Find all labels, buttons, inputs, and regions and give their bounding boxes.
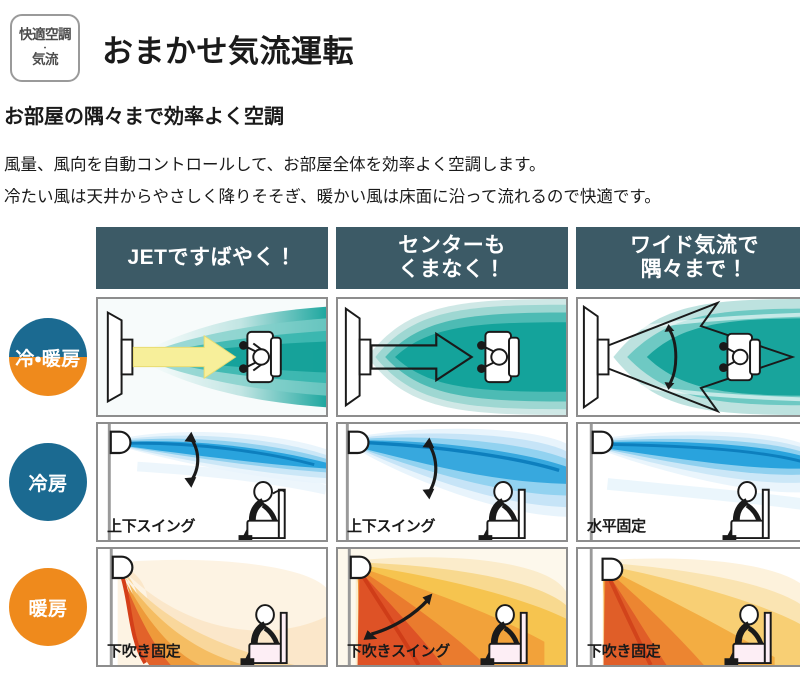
- diagram-cool-horizontal-fixed: 水平固定: [576, 422, 800, 542]
- diagram-cool-swing-jet: 上下スイング: [96, 422, 328, 542]
- row-badge-heating-label: 暖房: [28, 594, 67, 621]
- diagram-jet-top-view: [96, 297, 328, 417]
- table-row: 暖房: [0, 547, 800, 667]
- row-cells: 上下スイング: [96, 422, 800, 542]
- cell-caption: 上下スイング: [347, 515, 435, 536]
- category-badge-line1: 快適空調: [19, 28, 71, 43]
- table-row: 冷房: [0, 422, 800, 542]
- table-rows: 冷・暖房: [0, 297, 800, 672]
- diagram-heat-down-fixed-jet: 下吹き固定: [96, 547, 328, 667]
- diagram-cool-swing-center: 上下スイング: [336, 422, 568, 542]
- column-header-jet-line1: JETですばやく！: [127, 246, 296, 271]
- category-badge-separator: ・: [40, 44, 49, 52]
- cell-caption: 下吹き固定: [587, 640, 661, 661]
- column-header-wide-line2: 隅々まで！: [641, 258, 749, 283]
- category-badge: 快適空調 ・ 気流: [10, 14, 80, 82]
- column-header-center-line2: くまなく！: [398, 258, 506, 283]
- column-header-jet: JETですばやく！: [96, 227, 328, 289]
- row-cells: [96, 297, 800, 417]
- column-header-wide: ワイド気流で 隅々まで！: [576, 227, 800, 289]
- category-badge-line2: 気流: [32, 53, 58, 68]
- cell-caption: 上下スイング: [107, 515, 195, 536]
- row-badge-heating: 暖房: [9, 568, 87, 646]
- cell-caption: 下吹きスイング: [347, 640, 450, 661]
- body-paragraph-1: 風量、風向を自動コントロールして、お部屋全体を効率よく空調します。: [4, 149, 800, 181]
- cell-caption: 水平固定: [587, 515, 646, 536]
- row-badge-cool-heat-label: 冷・暖房: [15, 344, 80, 371]
- diagram-heat-down-fixed-wide: 下吹き固定: [576, 547, 800, 667]
- table-column-headers: JETですばやく！ センターも くまなく！ ワイド気流で 隅々まで！: [96, 227, 800, 289]
- diagram-center-top-view: [336, 297, 568, 417]
- column-header-wide-line1: ワイド気流で: [630, 234, 759, 259]
- row-label-cool-heat-wrap: 冷・暖房: [0, 318, 96, 396]
- diagram-heat-down-swing: 下吹きスイング: [336, 547, 568, 667]
- page-title: おまかせ気流運転: [102, 26, 354, 71]
- row-badge-cooling-label: 冷房: [28, 469, 67, 496]
- row-badge-cooling: 冷房: [9, 443, 87, 521]
- row-cells: 下吹き固定: [96, 547, 800, 667]
- table-row: 冷・暖房: [0, 297, 800, 417]
- column-header-center-line1: センターも: [398, 234, 506, 259]
- body-paragraph-2: 冷たい風は天井からやさしく降りそそぎ、暖かい風は床面に沿って流れるので快適です。: [4, 181, 800, 213]
- wide-top-view-svg: [578, 299, 800, 415]
- row-label-heating-wrap: 暖房: [0, 568, 96, 646]
- cell-caption: 下吹き固定: [107, 640, 181, 661]
- airflow-comparison-table: JETですばやく！ センターも くまなく！ ワイド気流で 隅々まで！ 冷・暖房: [0, 227, 800, 697]
- column-header-center: センターも くまなく！: [336, 227, 568, 289]
- diagram-wide-top-view: [576, 297, 800, 417]
- row-label-cooling-wrap: 冷房: [0, 443, 96, 521]
- page-header: 快適空調 ・ 気流 おまかせ気流運転: [0, 0, 800, 86]
- row-badge-cool-heat: 冷・暖房: [9, 318, 87, 396]
- center-top-view-svg: [338, 299, 566, 415]
- jet-top-view-svg: [98, 299, 326, 415]
- section-lead: お部屋の隅々まで効率よく空調: [4, 100, 800, 129]
